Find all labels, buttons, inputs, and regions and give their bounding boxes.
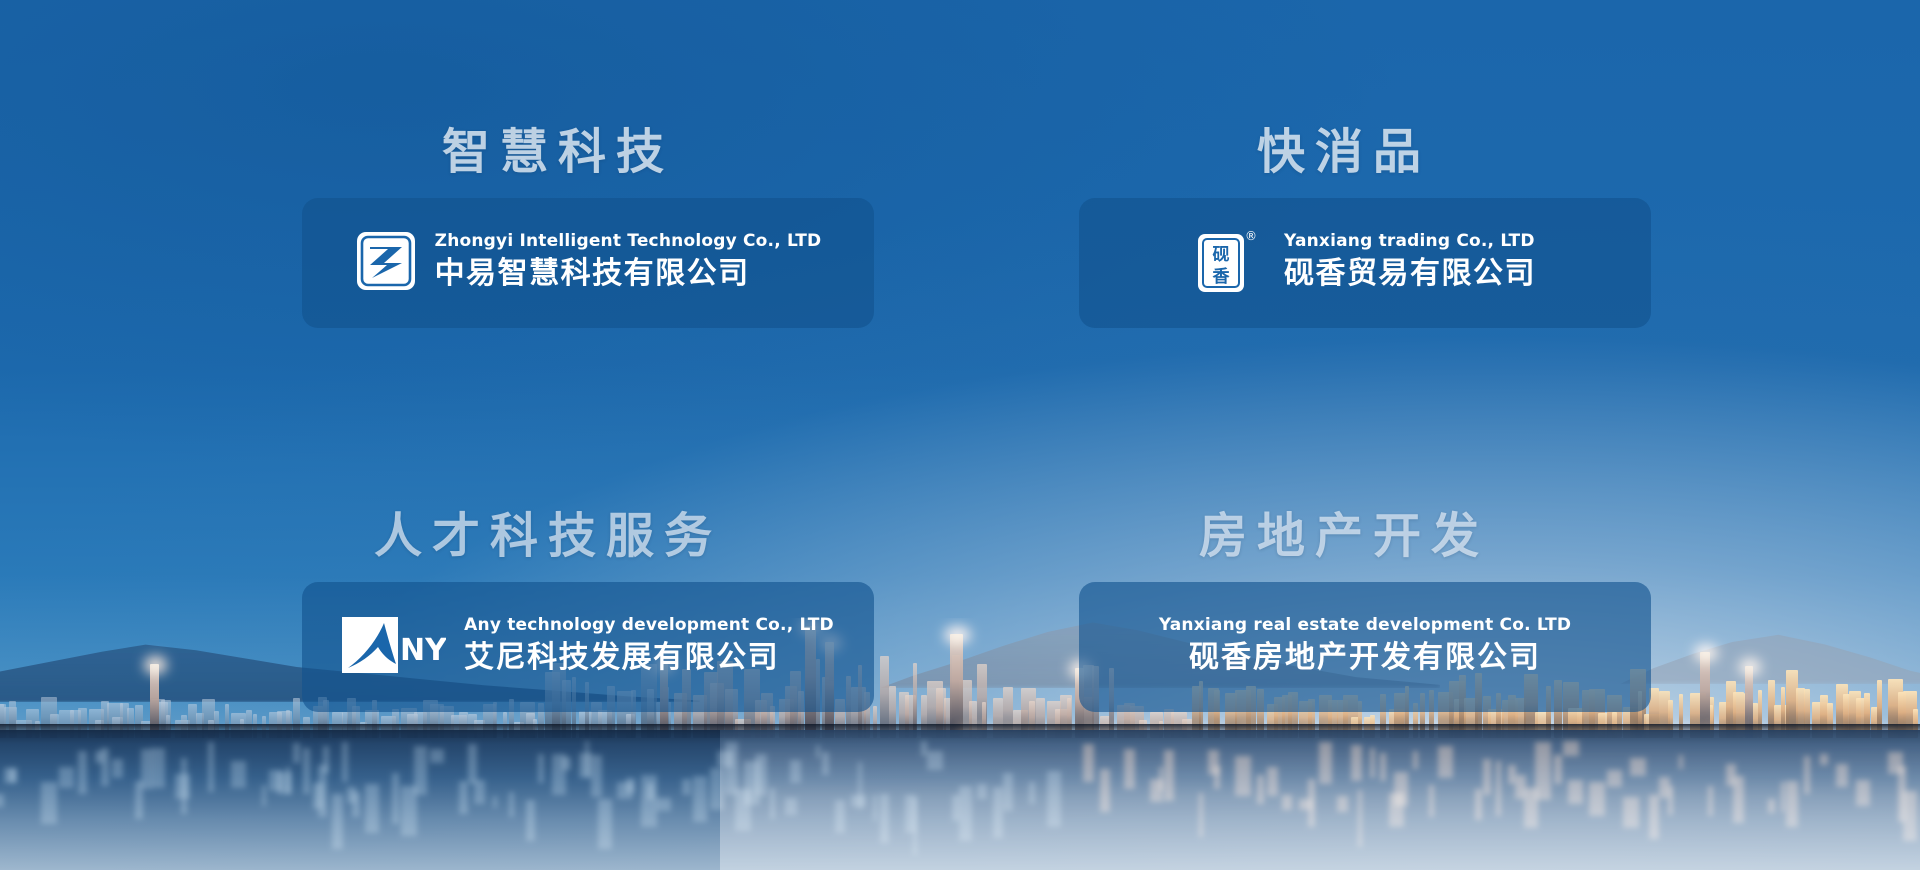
segment-smart-technology: 智慧科技 Zhongyi Intelligent Technology Co.,… bbox=[302, 128, 874, 328]
company-name-cn: 中易智慧科技有限公司 bbox=[435, 254, 822, 295]
svg-text:香: 香 bbox=[1213, 267, 1230, 287]
any-logo-icon: NY bbox=[342, 614, 446, 681]
company-card-yanxiang-trading[interactable]: 砚 香 ® Yanxiang trading Co., LTD 砚香贸易有限公司 bbox=[1079, 198, 1651, 328]
segment-title-smart-technology: 智慧科技 bbox=[442, 128, 874, 176]
company-name-cn: 砚香贸易有限公司 bbox=[1284, 254, 1536, 295]
segment-title-real-estate: 房地产开发 bbox=[1199, 512, 1651, 560]
any-brand-text: Any technology development Co., LTD 艾尼科技… bbox=[464, 615, 834, 679]
segment-fmcg: 快消品 砚 香 ® Yanxiang trading Co., LTD 砚香贸易… bbox=[1079, 128, 1651, 328]
company-card-any[interactable]: NY Any technology development Co., LTD 艾… bbox=[302, 582, 874, 712]
segment-real-estate: 房地产开发 Yanxiang real estate development C… bbox=[1079, 512, 1651, 712]
yanxiang-seal-logo-icon: 砚 香 ® bbox=[1194, 226, 1266, 301]
company-name-cn: 砚香房地产开发有限公司 bbox=[1189, 638, 1541, 679]
svg-text:砚: 砚 bbox=[1213, 245, 1230, 265]
zhongyi-brand-text: Zhongyi Intelligent Technology Co., LTD … bbox=[435, 231, 822, 295]
yanxiang-trading-brand-text: Yanxiang trading Co., LTD 砚香贸易有限公司 bbox=[1284, 231, 1536, 295]
segment-title-fmcg: 快消品 bbox=[1257, 128, 1651, 176]
company-card-yanxiang-real-estate[interactable]: Yanxiang real estate development Co. LTD… bbox=[1079, 582, 1651, 712]
company-name-en: Any technology development Co., LTD bbox=[464, 615, 834, 636]
zhongyi-z-logo-icon bbox=[355, 230, 417, 297]
company-name-en: Yanxiang real estate development Co. LTD bbox=[1159, 615, 1571, 636]
company-name-cn: 艾尼科技发展有限公司 bbox=[464, 638, 834, 679]
svg-text:NY: NY bbox=[400, 633, 446, 668]
segment-title-talent-services: 人才科技服务 bbox=[374, 512, 874, 560]
segment-talent-services: 人才科技服务 NY Any technology development Co.… bbox=[302, 512, 874, 712]
company-card-zhongyi[interactable]: Zhongyi Intelligent Technology Co., LTD … bbox=[302, 198, 874, 328]
segments-grid: 智慧科技 Zhongyi Intelligent Technology Co.,… bbox=[0, 0, 1920, 870]
svg-text:®: ® bbox=[1245, 229, 1257, 243]
page-root: 智慧科技 Zhongyi Intelligent Technology Co.,… bbox=[0, 0, 1920, 870]
company-name-en: Zhongyi Intelligent Technology Co., LTD bbox=[435, 231, 822, 252]
company-name-en: Yanxiang trading Co., LTD bbox=[1284, 231, 1536, 252]
yanxiang-real-estate-brand-text: Yanxiang real estate development Co. LTD… bbox=[1159, 615, 1571, 679]
